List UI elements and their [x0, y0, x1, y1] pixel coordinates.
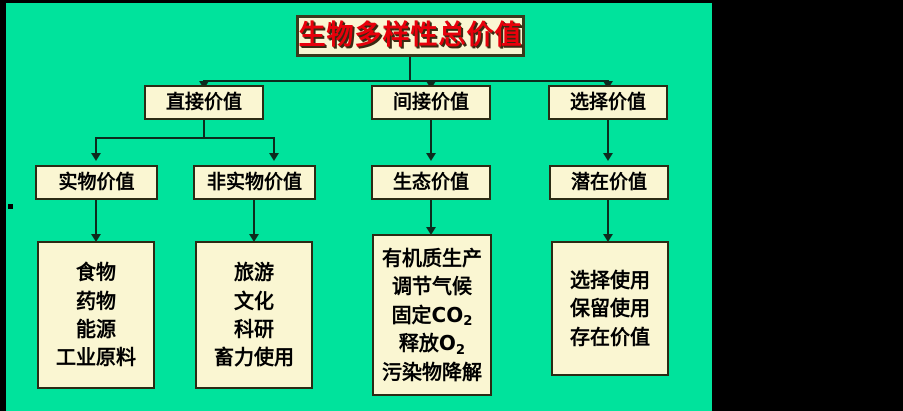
connector-direct-bus: [95, 137, 275, 139]
leaf-item: 旅游: [234, 260, 274, 284]
leaf-item: 食物: [76, 260, 116, 284]
leaf-item: 畜力使用: [214, 345, 294, 369]
node-label: 生态价值: [393, 171, 469, 194]
arrowhead-to-ecological: [426, 153, 436, 161]
leaf-item-text: 释放O: [399, 331, 456, 355]
leaf-item: 科研: [234, 317, 274, 341]
leaf-item: 药物: [76, 289, 116, 313]
arrowhead-to-potential: [603, 153, 613, 161]
connector-level2-bus: [203, 80, 608, 82]
subscript-2: 2: [456, 343, 465, 358]
node-label: 生物多样性总价值: [299, 20, 523, 53]
leafbox-tangible-items[interactable]: 食物 药物 能源 工业原料: [37, 241, 155, 389]
leafbox-ecological-items[interactable]: 有机质生产 调节气候 固定CO2 释放O2 污染物降解: [372, 234, 492, 396]
connector-direct-stem: [203, 120, 205, 138]
node-label: 选择价值: [570, 91, 646, 114]
leaf-item: 调节气候: [392, 274, 472, 298]
leaf-item-co2: 固定CO2: [392, 303, 473, 327]
leafbox-intangible-items[interactable]: 旅游 文化 科研 畜力使用: [195, 241, 313, 389]
edge-marker-dot: [8, 204, 13, 209]
node-label: 间接价值: [393, 91, 469, 114]
subscript-2: 2: [463, 314, 472, 329]
leaf-item: 污染物降解: [382, 360, 482, 384]
leaf-item: 选择使用: [570, 268, 650, 292]
leaf-item: 工业原料: [56, 345, 136, 369]
connector-title-stem: [409, 57, 411, 81]
node-label: 潜在价值: [571, 171, 647, 194]
leaf-item: 文化: [234, 289, 274, 313]
node-total-biodiversity-value[interactable]: 生物多样性总价值: [296, 15, 525, 57]
node-label: 直接价值: [166, 91, 242, 114]
node-tangible-value[interactable]: 实物价值: [35, 165, 158, 200]
leaf-item-text: 固定CO: [392, 303, 464, 327]
green-background: 生物多样性总价值 直接价值 间接价值 选择价值: [6, 3, 712, 411]
node-ecological-value[interactable]: 生态价值: [371, 165, 491, 200]
node-label: 实物价值: [58, 171, 134, 194]
node-direct-value[interactable]: 直接价值: [144, 85, 264, 120]
leaf-item: 保留使用: [570, 296, 650, 320]
node-potential-value[interactable]: 潜在价值: [549, 165, 669, 200]
leafbox-potential-items[interactable]: 选择使用 保留使用 存在价值: [551, 241, 669, 376]
node-label: 非实物价值: [207, 171, 302, 194]
node-intangible-value[interactable]: 非实物价值: [193, 165, 316, 200]
leaf-item: 有机质生产: [382, 246, 482, 270]
diagram-canvas: 生物多样性总价值 直接价值 间接价值 选择价值: [0, 0, 903, 411]
node-indirect-value[interactable]: 间接价值: [371, 85, 491, 120]
arrowhead-to-tangible: [91, 153, 101, 161]
node-option-value[interactable]: 选择价值: [548, 85, 668, 120]
leaf-item: 能源: [76, 317, 116, 341]
leaf-item: 存在价值: [570, 325, 650, 349]
arrowhead-to-intangible: [269, 153, 279, 161]
leaf-item-o2: 释放O2: [399, 331, 465, 355]
